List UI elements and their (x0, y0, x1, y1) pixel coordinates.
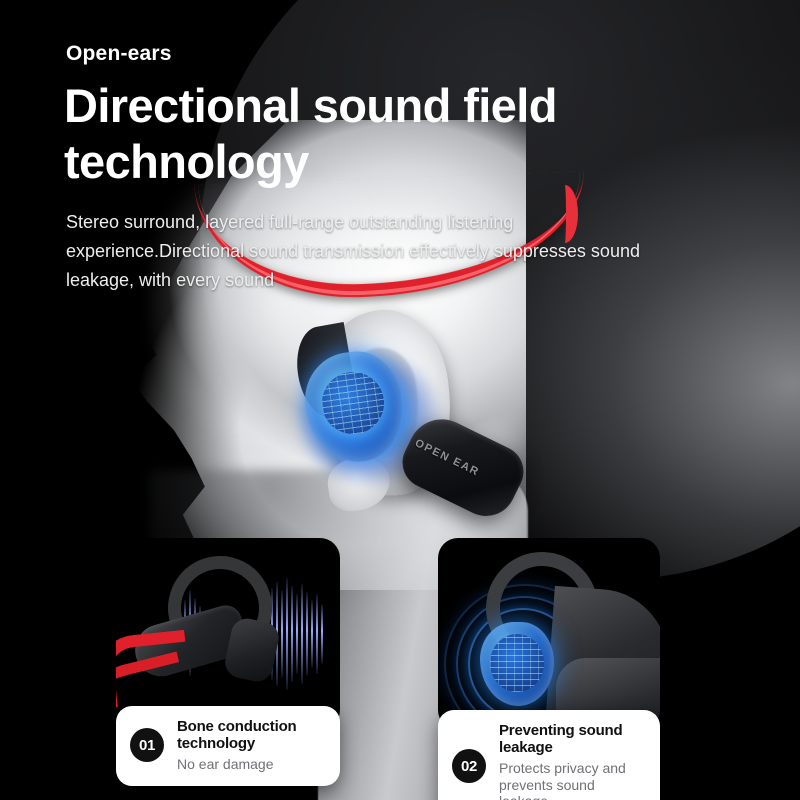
feature-number-badge: 01 (130, 728, 164, 762)
feature-subtitle: Protects privacy and prevents sound leak… (499, 760, 644, 800)
feature-image-bone-conduction (116, 538, 340, 730)
feature-label-01: 01 Bone conduction technology No ear dam… (116, 706, 340, 786)
feature-subtitle: No ear damage (177, 756, 324, 773)
ear-with-earphone: OPEN EAR (300, 300, 560, 550)
product-feature-banner: OPEN EAR Open-ears Directional sound fie… (0, 0, 800, 800)
feature-card-02[interactable]: 02 Preventing sound leakage Protects pri… (438, 538, 660, 792)
feature-title: Bone conduction technology (177, 718, 324, 753)
description-text: Stereo surround, layered full-range outs… (66, 208, 656, 295)
driver-circuit-icon (490, 634, 544, 692)
page-title: Directional sound field technology (64, 78, 664, 190)
feature-image-sound-leakage (438, 538, 660, 730)
feature-card-01[interactable]: 01 Bone conduction technology No ear dam… (116, 538, 340, 788)
feature-label-02: 02 Preventing sound leakage Protects pri… (438, 710, 660, 800)
feature-title: Preventing sound leakage (499, 722, 644, 757)
kicker-text: Open-ears (66, 42, 172, 66)
feature-number-badge: 02 (452, 749, 486, 783)
